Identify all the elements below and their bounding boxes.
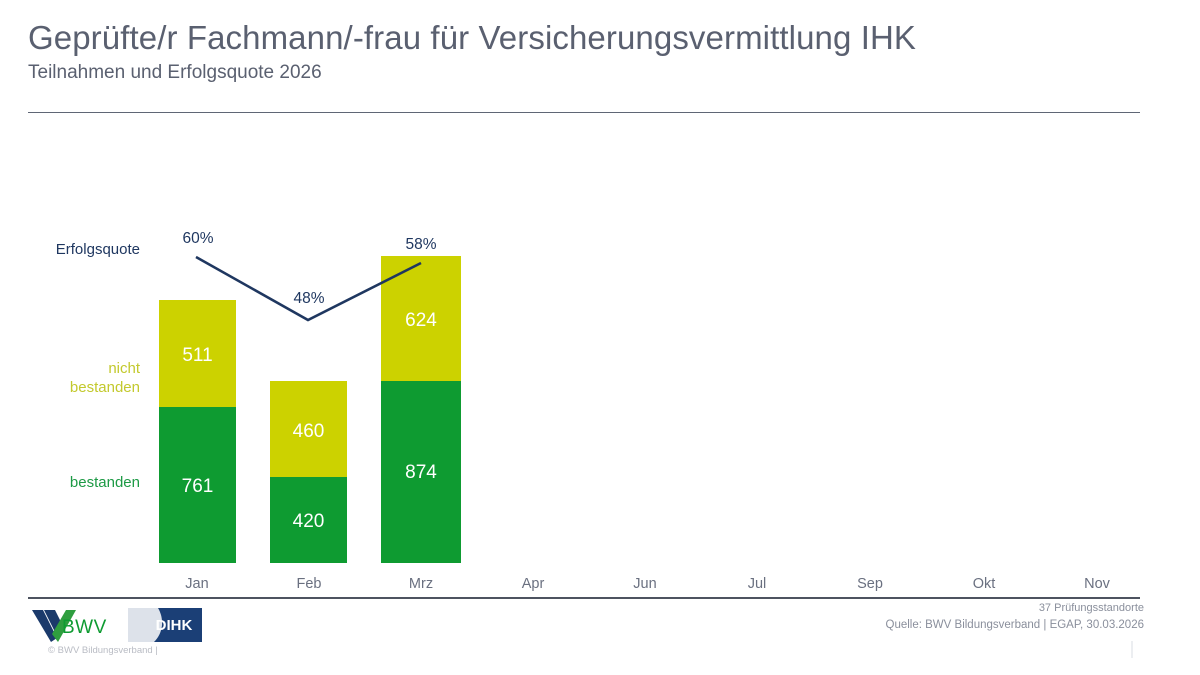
bar-segment-pass-jan[interactable]: 761 — [159, 407, 236, 563]
line-value-label-jan: 60% — [163, 230, 233, 248]
footer-divider — [28, 597, 1140, 599]
axis-tick-mrz: Mrz — [361, 576, 481, 592]
bar-value-fail-mrz: 624 — [381, 311, 461, 330]
axis-tick-jan: Jan — [137, 576, 257, 592]
bar-value-fail-jan: 511 — [159, 346, 236, 365]
footer-standorte-text: 37 Prüfungsstandorte — [886, 600, 1145, 617]
bar-segment-pass-mrz[interactable]: 874 — [381, 381, 461, 563]
bar-value-fail-feb: 460 — [270, 422, 347, 441]
stacked-bar-chart: Erfolgsquote nicht bestanden bestanden 5… — [0, 0, 1200, 675]
legend-label-nicht-line1: nicht — [0, 360, 140, 379]
footer-quelle-text: Quelle: BWV Bildungsverband | EGAP, 30.0… — [886, 617, 1145, 634]
bar-value-pass-mrz: 874 — [381, 463, 461, 482]
bar-segment-fail-feb[interactable]: 460 — [270, 381, 347, 477]
legend-label-nicht-bestanden: nicht bestanden — [0, 360, 140, 398]
legend-label-erfolgsquote: Erfolgsquote — [0, 241, 140, 260]
axis-tick-jul: Jul — [697, 576, 817, 592]
axis-tick-apr: Apr — [473, 576, 593, 592]
svg-text:DIHK: DIHK — [156, 617, 193, 634]
bar-segment-fail-jan[interactable]: 511 — [159, 300, 236, 407]
corner-mark — [1131, 641, 1133, 658]
axis-tick-feb: Feb — [249, 576, 369, 592]
legend-label-bestanden: bestanden — [0, 474, 140, 493]
legend-label-nicht-line2: bestanden — [0, 379, 140, 398]
axis-tick-sep: Sep — [810, 576, 930, 592]
axis-tick-okt: Okt — [924, 576, 1044, 592]
dihk-logo-icon: DIHK — [128, 608, 202, 642]
bar-segment-fail-mrz[interactable]: 624 — [381, 256, 461, 381]
bar-value-pass-feb: 420 — [270, 512, 347, 531]
bar-segment-pass-feb[interactable]: 420 — [270, 477, 347, 563]
bwv-wordmark: BWV — [62, 617, 107, 639]
footer-source-block: 37 Prüfungsstandorte Quelle: BWV Bildung… — [886, 600, 1145, 634]
bwv-copyright-text: © BWV Bildungsverband | — [48, 645, 158, 656]
axis-tick-nov: Nov — [1037, 576, 1157, 592]
line-value-label-feb: 48% — [274, 290, 344, 308]
line-value-label-mrz: 58% — [386, 236, 456, 254]
axis-tick-jun: Jun — [585, 576, 705, 592]
bar-value-pass-jan: 761 — [159, 477, 236, 496]
